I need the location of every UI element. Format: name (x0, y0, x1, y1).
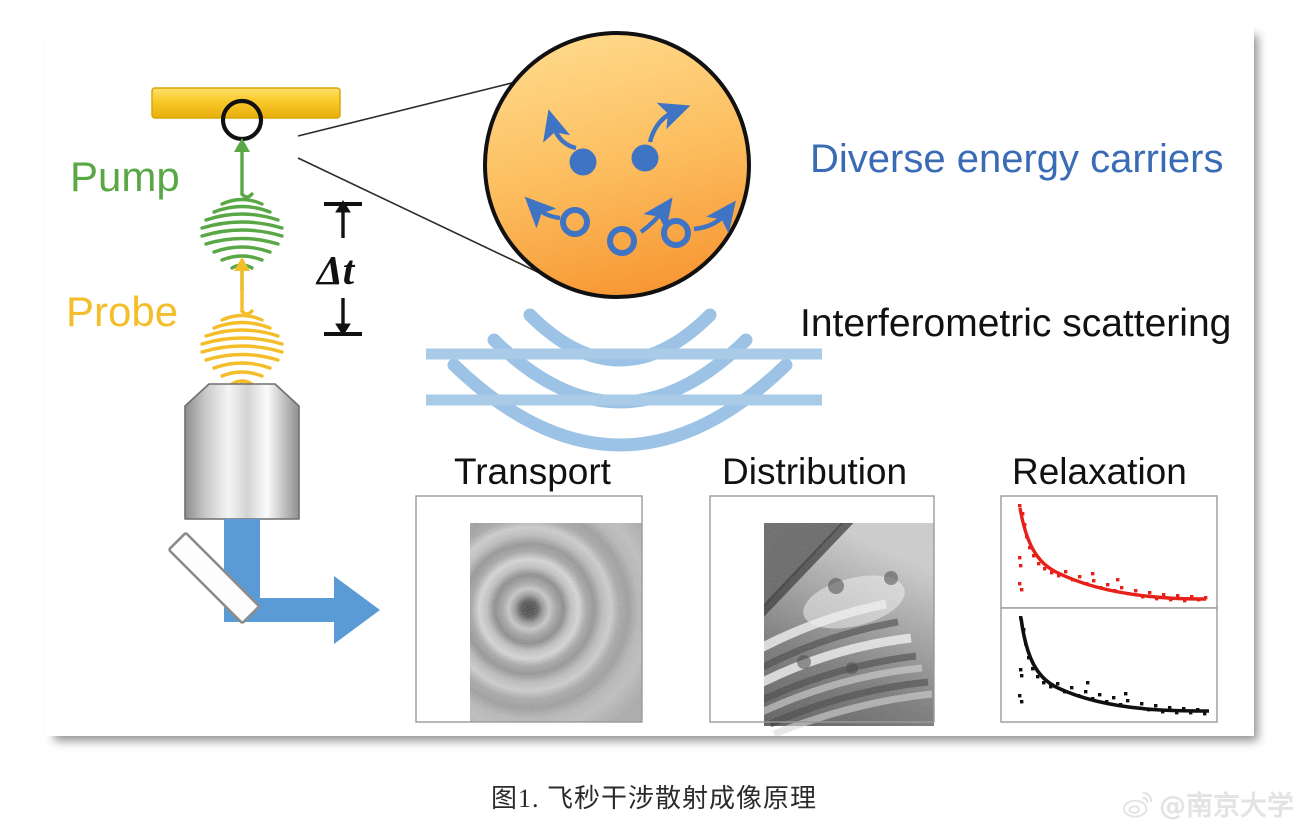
panel-transport-image (416, 496, 642, 722)
microscope-objective (185, 384, 299, 519)
figure-caption: 图1. 飞秒干涉散射成像原理 (0, 778, 1308, 815)
weibo-logo-icon (1123, 789, 1153, 819)
panel-title-relaxation: Relaxation (1012, 451, 1187, 492)
panel-title-distribution: Distribution (722, 451, 907, 492)
panel-relaxation-charts (1001, 496, 1217, 722)
electron-particle (632, 145, 659, 172)
carriers-label: Diverse energy carriers (810, 137, 1223, 181)
figure-diagram: Pump Probe Δt (46, 26, 1254, 736)
delay-time-label: Δt (315, 247, 356, 293)
scattering-label: Interferometric scattering (800, 302, 1231, 345)
scattering-wavefronts (454, 315, 786, 445)
pump-label: Pump (70, 153, 180, 200)
electron-particle (570, 149, 597, 176)
watermark-text: @南京大学 (1159, 784, 1294, 823)
weibo-watermark: @南京大学 (1123, 784, 1294, 823)
energy-carrier-inset (485, 33, 749, 297)
panel-distribution-image (706, 496, 934, 734)
probe-label: Probe (66, 288, 178, 335)
detection-beam-arrow (224, 519, 380, 644)
panel-title-transport: Transport (454, 451, 612, 492)
figure-card: Pump Probe Δt (46, 26, 1254, 736)
